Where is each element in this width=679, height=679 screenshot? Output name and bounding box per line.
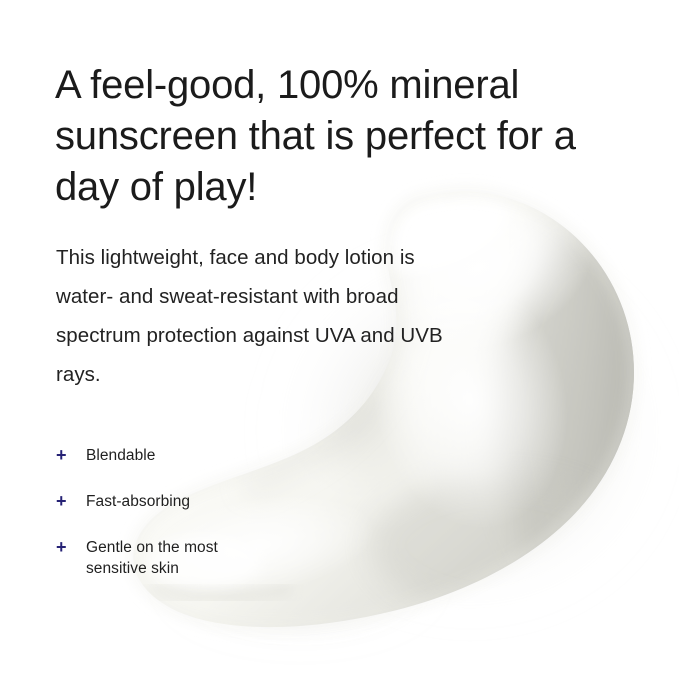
plus-icon: + xyxy=(56,537,72,558)
product-description-paragraph: This lightweight, face and body lotion i… xyxy=(56,238,456,394)
copy-block: A feel-good, 100% mineral sunscreen that… xyxy=(0,0,679,679)
page-title: A feel-good, 100% mineral sunscreen that… xyxy=(55,60,585,213)
list-item-label: Blendable xyxy=(86,445,356,466)
list-item: + Blendable xyxy=(56,445,356,466)
list-item: + Fast-absorbing xyxy=(56,491,356,512)
plus-icon: + xyxy=(56,445,72,466)
plus-icon: + xyxy=(56,491,72,512)
product-description-panel: A feel-good, 100% mineral sunscreen that… xyxy=(0,0,679,679)
list-item-label: Gentle on the most sensitive skin xyxy=(86,537,356,579)
list-item-label: Fast-absorbing xyxy=(86,491,356,512)
feature-benefit-list: + Blendable + Fast-absorbing + Gentle on… xyxy=(56,445,356,579)
list-item: + Gentle on the most sensitive skin xyxy=(56,537,356,579)
